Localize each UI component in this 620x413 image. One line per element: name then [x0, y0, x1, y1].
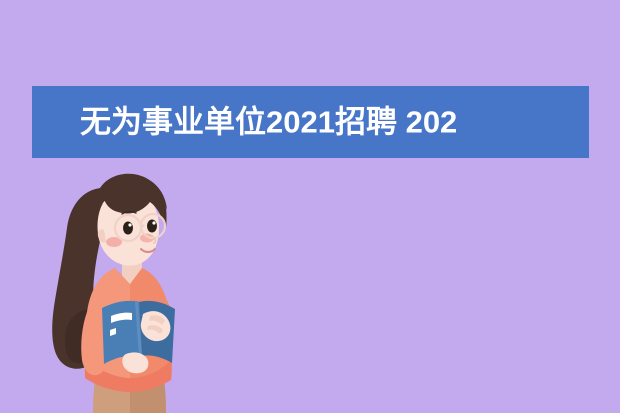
woman-reading-book-illustration [38, 158, 223, 413]
woman-reading-book-icon [38, 158, 223, 413]
poster-canvas: 无为事业单位2021招聘 202 [0, 0, 620, 413]
title-banner: 无为事业单位2021招聘 202 [32, 86, 589, 158]
page-title: 无为事业单位2021招聘 202 [80, 107, 457, 138]
